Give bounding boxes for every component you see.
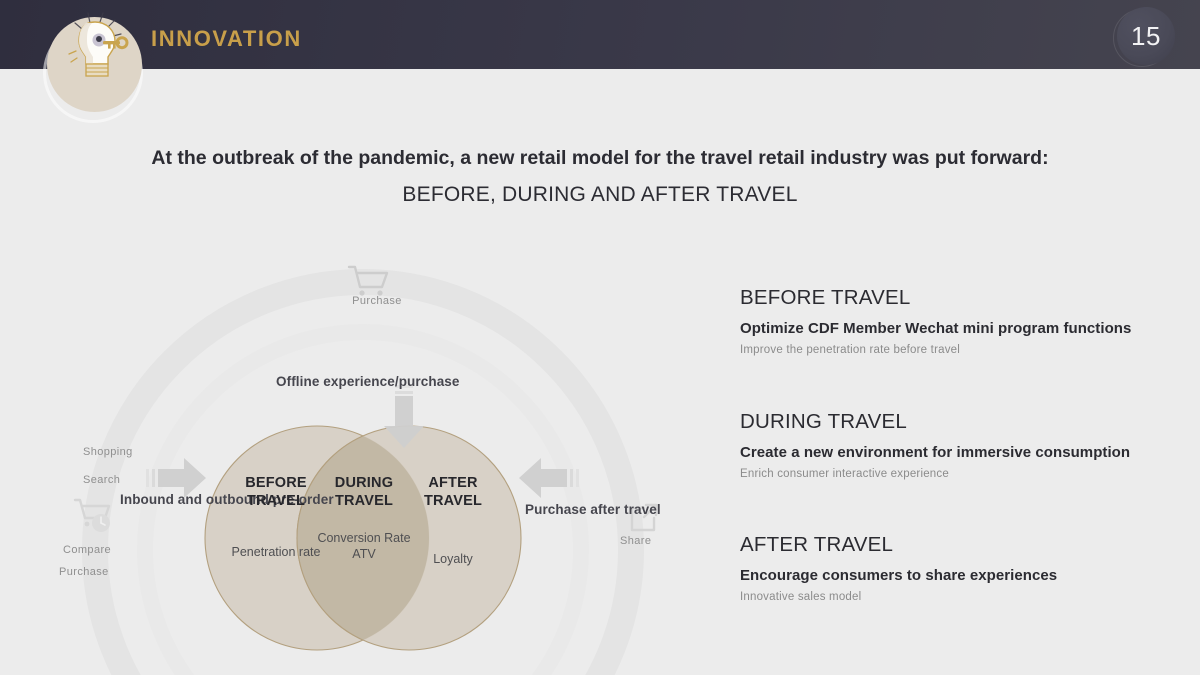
ring-label-search: Search	[83, 474, 120, 486]
diagram-graphics	[40, 250, 720, 675]
venn-title-during: DURING TRAVEL	[317, 474, 411, 511]
ring-label-share: Share	[620, 535, 651, 547]
ring-label-purchase-top: Purchase	[337, 295, 417, 307]
section-title: DURING TRAVEL	[740, 410, 1170, 434]
venn-diagram-group: Purchase Shopping Search Compare Purchas…	[40, 250, 720, 675]
venn-sub-during: Conversion Rate ATV	[317, 530, 411, 563]
ring-label-compare: Compare	[63, 544, 111, 556]
section-during-travel: DURING TRAVEL Create a new environment f…	[740, 410, 1170, 480]
slide-canvas: INNOVATION 15	[0, 0, 1200, 675]
ring-label-purchase-left: Purchase	[59, 566, 109, 578]
section-title: BEFORE TRAVEL	[740, 286, 1170, 310]
section-after-travel: AFTER TRAVEL Encourage consumers to shar…	[740, 533, 1170, 603]
venn-title-after: AFTER TRAVEL	[406, 474, 500, 511]
lightbulb-key-icon	[62, 11, 130, 91]
page-number-circle: 15	[1117, 7, 1175, 65]
flow-label-purchase-after: Purchase after travel	[525, 501, 619, 520]
headline-secondary: BEFORE, DURING AND AFTER TRAVEL	[0, 183, 1200, 207]
venn-sub-before: Penetration rate	[226, 544, 326, 560]
section-sub-text: Enrich consumer interactive experience	[740, 468, 1170, 480]
venn-sub-after: Loyalty	[406, 551, 500, 567]
ring-label-shopping: Shopping	[83, 446, 133, 458]
section-sub-text: Improve the penetration rate before trav…	[740, 344, 1170, 356]
section-main-text: Encourage consumers to share experiences	[740, 567, 1170, 584]
flow-label-inbound: Inbound and outbound pre-order	[120, 491, 220, 510]
section-main-text: Create a new environment for immersive c…	[740, 444, 1170, 461]
key-badge	[40, 11, 152, 127]
section-main-text: Optimize CDF Member Wechat mini program …	[740, 320, 1170, 337]
venn-title-before: BEFORE TRAVEL	[226, 474, 326, 511]
page-number-badge: 15	[1117, 7, 1175, 65]
section-before-travel: BEFORE TRAVEL Optimize CDF Member Wechat…	[740, 286, 1170, 356]
section-title: AFTER TRAVEL	[740, 533, 1170, 557]
section-sub-text: Innovative sales model	[740, 591, 1170, 603]
headline-primary: At the outbreak of the pandemic, a new r…	[0, 147, 1200, 170]
page-number-value: 15	[1131, 21, 1161, 52]
page-title: INNOVATION	[151, 26, 302, 52]
flow-label-offline: Offline experience/purchase	[276, 374, 460, 389]
